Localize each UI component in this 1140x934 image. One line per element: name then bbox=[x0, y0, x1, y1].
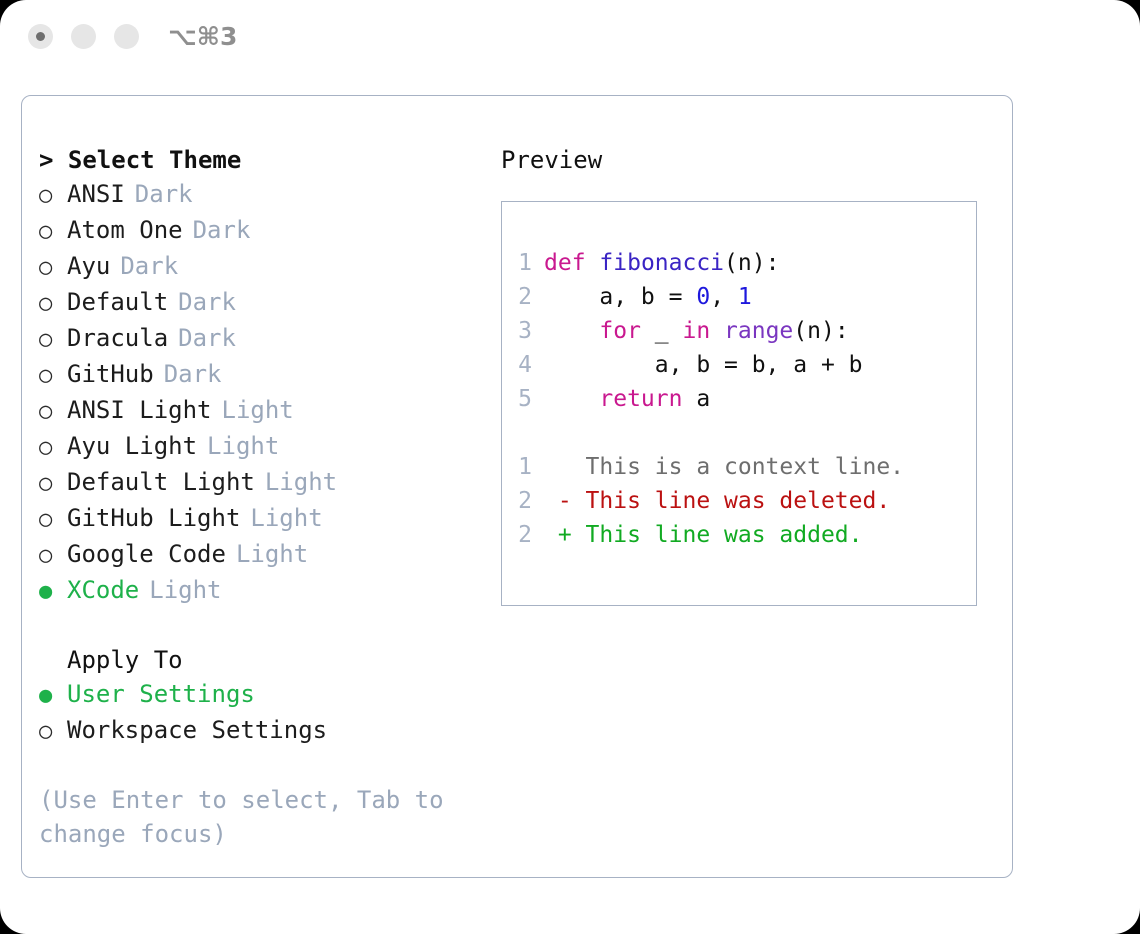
theme-picker-panel: > Select Theme ○ANSIDark○Atom OneDark○Ay… bbox=[21, 95, 1013, 878]
title-bar: ⌥⌘3 bbox=[0, 0, 1140, 78]
theme-variant-badge: Dark bbox=[135, 177, 193, 211]
code-token: for bbox=[599, 318, 641, 344]
theme-option-label: ANSI Light bbox=[67, 393, 212, 427]
code-token: a bbox=[682, 386, 710, 412]
code-token: fibonacci bbox=[599, 250, 724, 276]
theme-option[interactable]: ○Atom OneDark bbox=[39, 213, 469, 249]
radio-unselected-icon: ○ bbox=[39, 323, 67, 357]
theme-option[interactable]: ○DefaultDark bbox=[39, 285, 469, 321]
theme-variant-badge: Dark bbox=[178, 285, 236, 319]
code-token: a, b = bbox=[544, 284, 696, 310]
line-number: 1 bbox=[502, 246, 544, 280]
apply-to-option[interactable]: ○Workspace Settings bbox=[39, 713, 469, 749]
radio-unselected-icon: ○ bbox=[39, 179, 67, 213]
keyboard-shortcut-label: ⌥⌘3 bbox=[168, 22, 237, 51]
code-token: in bbox=[682, 318, 710, 344]
theme-option[interactable]: ○ANSIDark bbox=[39, 177, 469, 213]
line-number: 1 bbox=[502, 450, 544, 484]
theme-option[interactable]: ○GitHub LightLight bbox=[39, 501, 469, 537]
diff-line: 1 This is a context line. bbox=[502, 450, 976, 484]
code-text: a, b = b, a + b bbox=[544, 348, 863, 382]
preview-column: Preview 1def fibonacci(n):2 a, b = 0, 13… bbox=[501, 143, 991, 606]
radio-unselected-icon: ○ bbox=[39, 503, 67, 537]
code-line: 3 for _ in range(n): bbox=[502, 314, 976, 348]
radio-unselected-icon: ○ bbox=[39, 287, 67, 321]
diff-sample: 1 This is a context line.2 - This line w… bbox=[502, 450, 976, 552]
radio-unselected-icon: ○ bbox=[39, 215, 67, 249]
code-token: _ bbox=[641, 318, 683, 344]
window-dot-minimize[interactable] bbox=[71, 24, 96, 49]
code-token bbox=[544, 318, 599, 344]
keyboard-hint-text: (Use Enter to select, Tab to change focu… bbox=[39, 783, 449, 851]
theme-option-label: ANSI bbox=[67, 177, 125, 211]
radio-unselected-icon: ○ bbox=[39, 539, 67, 573]
theme-variant-badge: Light bbox=[222, 393, 294, 427]
theme-option-label: Default bbox=[67, 285, 168, 319]
radio-unselected-icon: ○ bbox=[39, 359, 67, 393]
theme-variant-badge: Light bbox=[236, 537, 308, 571]
code-token: a, b = b, a + b bbox=[544, 352, 863, 378]
code-token: range bbox=[724, 318, 793, 344]
code-token: + This line was added. bbox=[544, 522, 863, 548]
diff-line: 2 - This line was deleted. bbox=[502, 484, 976, 518]
theme-option[interactable]: ○GitHubDark bbox=[39, 357, 469, 393]
theme-option-label: GitHub bbox=[67, 357, 154, 391]
apply-to-option[interactable]: ●User Settings bbox=[39, 677, 469, 713]
theme-option[interactable]: ○DraculaDark bbox=[39, 321, 469, 357]
theme-option-label: Atom One bbox=[67, 213, 183, 247]
theme-variant-badge: Dark bbox=[120, 249, 178, 283]
theme-variant-badge: Light bbox=[149, 573, 221, 607]
theme-option[interactable]: ○ANSI LightLight bbox=[39, 393, 469, 429]
code-line: 5 return a bbox=[502, 382, 976, 416]
apply-to-option-label: Workspace Settings bbox=[67, 713, 327, 747]
theme-option-label: XCode bbox=[67, 573, 139, 607]
radio-unselected-icon: ○ bbox=[39, 467, 67, 501]
code-text: + This line was added. bbox=[544, 518, 863, 552]
apply-to-list: ●User Settings○Workspace Settings bbox=[39, 677, 469, 749]
code-token: (n): bbox=[724, 250, 779, 276]
theme-option-label: GitHub Light bbox=[67, 501, 240, 535]
theme-variant-badge: Dark bbox=[178, 321, 236, 355]
radio-unselected-icon: ○ bbox=[39, 431, 67, 465]
code-line: 2 a, b = 0, 1 bbox=[502, 280, 976, 314]
window-dot-active-indicator bbox=[36, 32, 45, 41]
apply-to-option-label: User Settings bbox=[67, 677, 255, 711]
theme-option-label: Default Light bbox=[67, 465, 255, 499]
radio-selected-icon: ● bbox=[39, 575, 67, 609]
code-token bbox=[586, 250, 600, 276]
section-spacer bbox=[39, 609, 469, 643]
theme-option-label: Ayu Light bbox=[67, 429, 197, 463]
theme-variant-badge: Light bbox=[207, 429, 279, 463]
line-number: 5 bbox=[502, 382, 544, 416]
apply-to-heading: Apply To bbox=[39, 643, 469, 677]
window-dot-maximize[interactable] bbox=[114, 24, 139, 49]
theme-variant-badge: Dark bbox=[193, 213, 251, 247]
code-diff-spacer bbox=[502, 416, 976, 450]
code-text: def fibonacci(n): bbox=[544, 246, 779, 280]
radio-unselected-icon: ○ bbox=[39, 395, 67, 429]
code-token: , bbox=[710, 284, 738, 310]
radio-unselected-icon: ○ bbox=[39, 251, 67, 285]
preview-box: 1def fibonacci(n):2 a, b = 0, 13 for _ i… bbox=[501, 201, 977, 606]
theme-option-label: Ayu bbox=[67, 249, 110, 283]
code-token: 1 bbox=[738, 284, 752, 310]
code-text: - This line was deleted. bbox=[544, 484, 890, 518]
theme-option[interactable]: ○Default LightLight bbox=[39, 465, 469, 501]
code-sample: 1def fibonacci(n):2 a, b = 0, 13 for _ i… bbox=[502, 246, 976, 416]
code-text: for _ in range(n): bbox=[544, 314, 849, 348]
theme-variant-badge: Dark bbox=[164, 357, 222, 391]
line-number: 2 bbox=[502, 484, 544, 518]
theme-option[interactable]: ●XCodeLight bbox=[39, 573, 469, 609]
line-number: 3 bbox=[502, 314, 544, 348]
terminal-window: ⌥⌘3 > Select Theme ○ANSIDark○Atom OneDar… bbox=[0, 0, 1140, 934]
code-token bbox=[544, 386, 599, 412]
code-line: 1def fibonacci(n): bbox=[502, 246, 976, 280]
code-line: 4 a, b = b, a + b bbox=[502, 348, 976, 382]
theme-list: ○ANSIDark○Atom OneDark○AyuDark○DefaultDa… bbox=[39, 177, 469, 609]
radio-selected-icon: ● bbox=[39, 679, 67, 713]
line-number: 2 bbox=[502, 280, 544, 314]
code-token: This is a context line. bbox=[544, 454, 904, 480]
code-token: 0 bbox=[696, 284, 710, 310]
theme-option-label: Google Code bbox=[67, 537, 226, 571]
preview-heading: Preview bbox=[501, 143, 991, 177]
line-number: 2 bbox=[502, 518, 544, 552]
code-token: def bbox=[544, 250, 586, 276]
line-number: 4 bbox=[502, 348, 544, 382]
theme-option[interactable]: ○Google CodeLight bbox=[39, 537, 469, 573]
code-token bbox=[710, 318, 724, 344]
theme-option[interactable]: ○AyuDark bbox=[39, 249, 469, 285]
theme-variant-badge: Light bbox=[265, 465, 337, 499]
radio-unselected-icon: ○ bbox=[39, 715, 67, 749]
code-text: a, b = 0, 1 bbox=[544, 280, 752, 314]
code-token: return bbox=[599, 386, 682, 412]
theme-option[interactable]: ○Ayu LightLight bbox=[39, 429, 469, 465]
code-text: This is a context line. bbox=[544, 450, 904, 484]
theme-variant-badge: Light bbox=[250, 501, 322, 535]
code-token: - This line was deleted. bbox=[544, 488, 890, 514]
window-dot-close[interactable] bbox=[28, 24, 53, 49]
code-token: (n): bbox=[793, 318, 848, 344]
select-theme-heading: > Select Theme bbox=[39, 143, 469, 177]
theme-option-label: Dracula bbox=[67, 321, 168, 355]
diff-line: 2 + This line was added. bbox=[502, 518, 976, 552]
code-text: return a bbox=[544, 382, 710, 416]
window-controls bbox=[28, 24, 139, 49]
theme-selection-column: > Select Theme ○ANSIDark○Atom OneDark○Ay… bbox=[39, 143, 469, 851]
